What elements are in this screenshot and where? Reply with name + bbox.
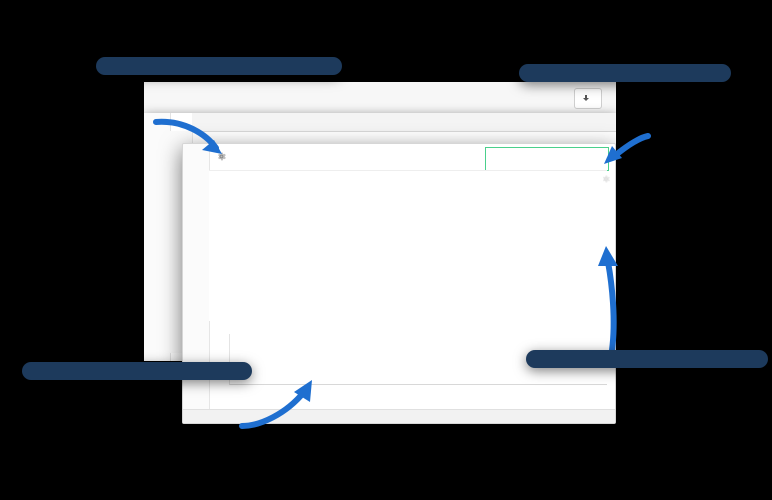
table-header-row bbox=[192, 113, 616, 132]
callout-drag-drop bbox=[526, 350, 768, 368]
screenshot-stage bbox=[0, 0, 772, 500]
dashboard-rail[interactable] bbox=[183, 144, 210, 423]
total-dedicated-employees-kpi bbox=[485, 147, 609, 171]
spreadsheet-rail[interactable] bbox=[144, 113, 171, 361]
download-icon bbox=[583, 95, 589, 102]
dashboard-header bbox=[209, 144, 615, 170]
resource-demand-panel bbox=[182, 143, 616, 424]
callout-anticipating bbox=[22, 362, 252, 380]
gantt-chart[interactable] bbox=[209, 170, 607, 321]
gear-icon[interactable] bbox=[216, 151, 227, 162]
gantt-time-axis bbox=[239, 320, 607, 334]
callout-insights bbox=[96, 57, 342, 75]
gear-icon-secondary[interactable] bbox=[601, 174, 611, 184]
resource-demand-bar-chart[interactable] bbox=[209, 334, 607, 406]
callout-total-demand bbox=[519, 64, 731, 82]
spreadsheet-toolbar bbox=[144, 82, 616, 115]
interactive-filters-bar[interactable] bbox=[183, 409, 615, 423]
download-button[interactable] bbox=[574, 88, 602, 109]
chart-x-axis bbox=[229, 385, 607, 405]
